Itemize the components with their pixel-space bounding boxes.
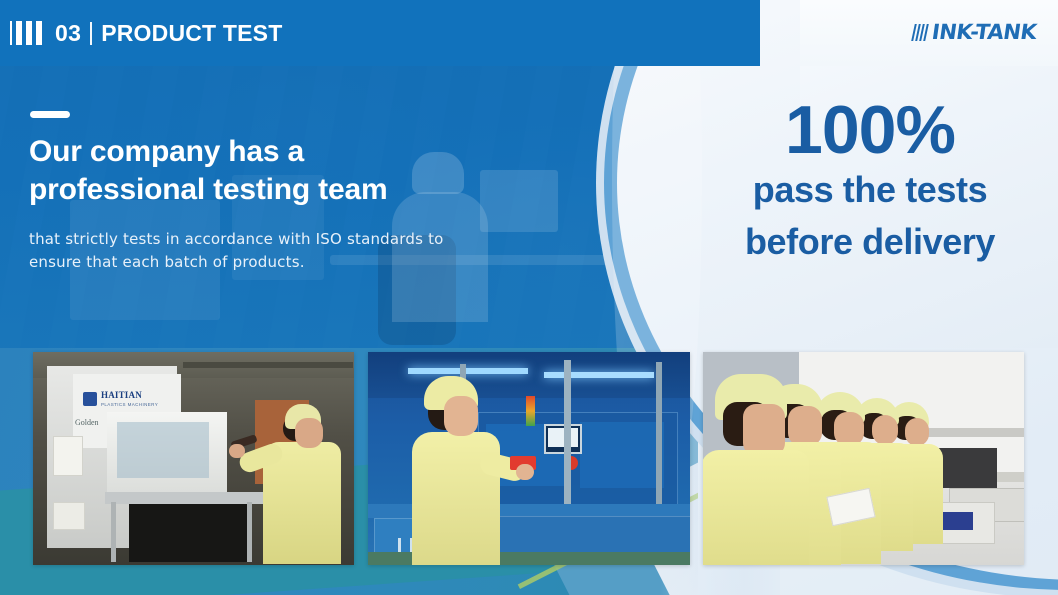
p1-document-sheet [53, 436, 83, 476]
headline: Our company has a professional testing t… [29, 133, 459, 209]
photo-production-line-check[interactable] [368, 352, 690, 565]
p1-machine-model: Golden [75, 418, 99, 427]
vertical-divider-icon [90, 22, 92, 45]
stat-line-1: pass the tests [690, 164, 1050, 216]
p1-table-leg-right [247, 502, 252, 562]
section-header: 03 PRODUCT TEST [10, 17, 282, 49]
p2-signal-tower-icon [526, 396, 535, 426]
bars-icon [10, 21, 46, 45]
p2-worker-body [412, 432, 500, 565]
p1-document-sheet-2 [53, 502, 85, 530]
headline-line-2: professional testing team [29, 171, 459, 209]
p1-brand-mark-icon [83, 392, 97, 406]
p2-light-bar-1 [408, 368, 528, 374]
p3-printer-label [939, 512, 973, 530]
photo-injection-molding-inspection[interactable]: HAITIAN PLASTICS MACHINERY Golden [33, 352, 354, 565]
p2-worker-face [444, 396, 478, 436]
p2-control-screen [548, 428, 578, 447]
p1-machine-brand-sub: PLASTICS MACHINERY [101, 402, 158, 407]
p1-machine-window [117, 422, 209, 478]
p1-worker-hand [229, 444, 245, 458]
slide-product-test: 03 PRODUCT TEST INK-TANK Our company has… [0, 0, 1058, 595]
accent-dash [30, 111, 70, 118]
p1-shadow-area [129, 504, 247, 562]
p3-shelf [927, 428, 1024, 437]
headline-line-1: Our company has a [29, 133, 459, 171]
p2-machine-window-2 [580, 422, 664, 488]
p1-beam [183, 362, 353, 368]
p1-worker-face [295, 418, 323, 448]
section-header-band: 03 PRODUCT TEST [0, 0, 760, 66]
p2-light-bar-2 [544, 372, 654, 378]
page-title: PRODUCT TEST [101, 20, 282, 47]
p1-table-leg-left [111, 502, 116, 562]
p2-cabinet-handle-1 [398, 538, 401, 552]
subtext: that strictly tests in accordance with I… [29, 228, 459, 274]
stat-line-2: before delivery [690, 216, 1050, 268]
logo-bars-icon [913, 24, 929, 41]
stat-block: 100% pass the tests before delivery [690, 96, 1050, 268]
p1-worktable [105, 492, 265, 504]
p2-worker-hand [516, 464, 534, 480]
bg-monitor-shape [480, 170, 558, 232]
p1-machine-brand: HAITIAN [101, 390, 142, 400]
logo-text: INK-TANK [930, 20, 1038, 44]
section-number: 03 [55, 20, 81, 47]
stat-value: 100% [690, 96, 1050, 164]
ink-tank-logo[interactable]: INK-TANK [913, 20, 1036, 44]
photo-qc-inspection-room[interactable] [703, 352, 1024, 565]
